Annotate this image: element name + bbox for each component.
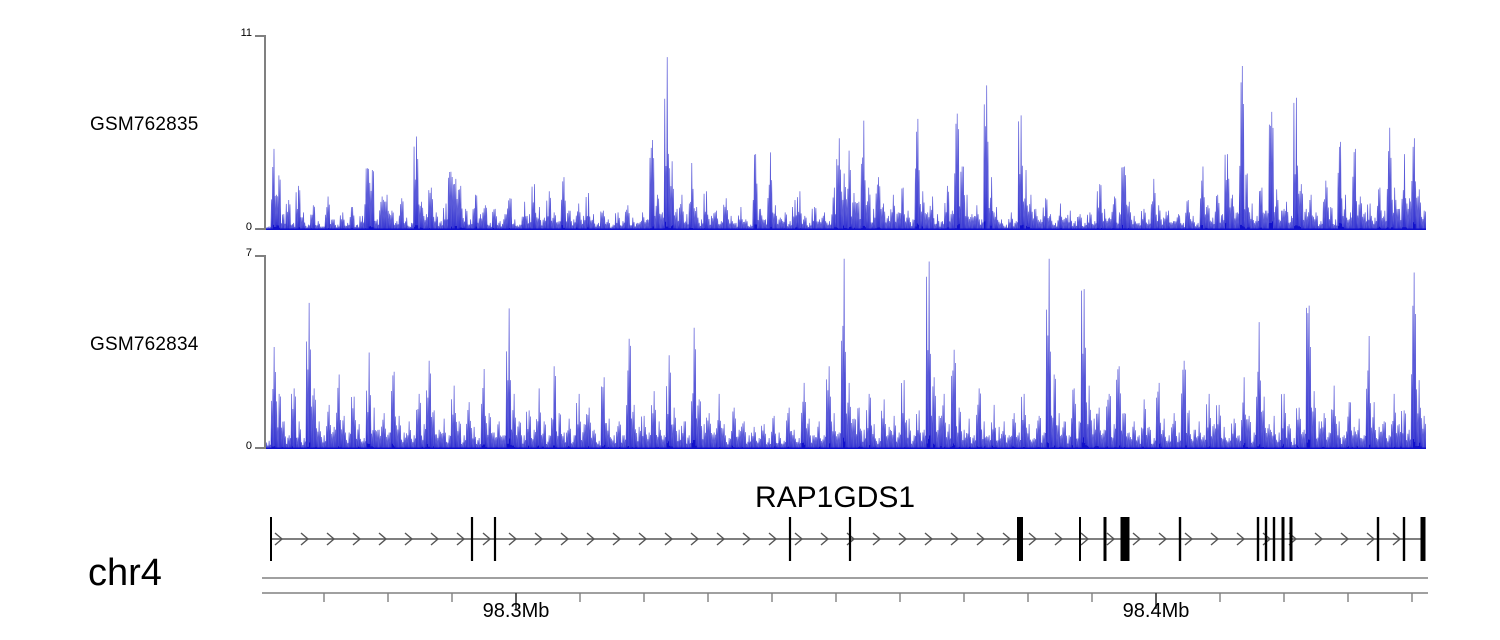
coordinate-ruler[interactable] xyxy=(260,574,1460,614)
track-1-axis-tick-max xyxy=(255,255,266,257)
track-1-plot-area[interactable] xyxy=(266,256,1426,449)
signal-track-gsm762834[interactable]: GSM762834 7 0 xyxy=(0,0,1500,470)
ruler-tick-label: 98.4Mb xyxy=(1123,600,1190,623)
track-1-axis-min-label: 0 xyxy=(214,440,252,452)
chromosome-label: chr4 xyxy=(88,552,162,595)
genome-browser-view: GSM762835 11 0 GSM762834 7 0 RAP1GDS1 ch… xyxy=(0,0,1500,640)
track-1-axis-tick-min xyxy=(255,447,266,449)
track-1-signal-plot xyxy=(266,256,1426,449)
ruler-tick-label: 98.3Mb xyxy=(483,600,550,623)
track-label-gsm762834: GSM762834 xyxy=(90,334,198,356)
gene-model-track[interactable] xyxy=(260,505,1460,575)
track-1-axis-max-label: 7 xyxy=(214,247,252,259)
